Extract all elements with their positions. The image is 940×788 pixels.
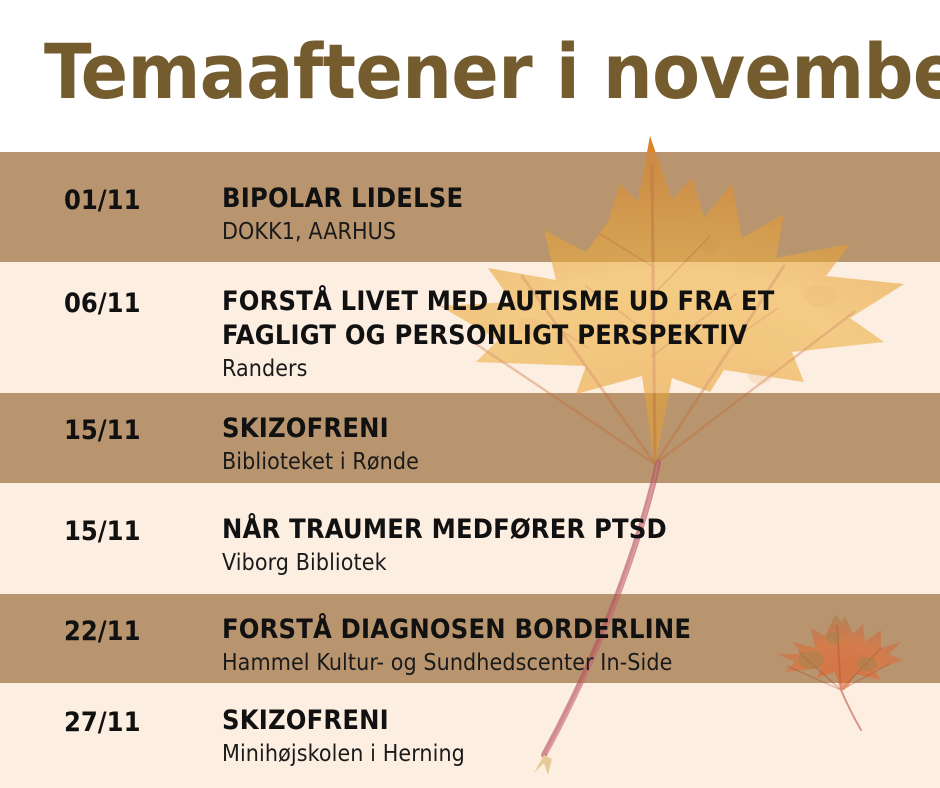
event-row: 22/11 FORSTÅ DIAGNOSEN BORDERLINE Hammel… xyxy=(0,594,940,683)
event-row: 01/11 BIPOLAR LIDELSE DOKK1, AARHUS xyxy=(0,152,940,262)
event-place: DOKK1, AARHUS xyxy=(222,217,930,247)
event-place: Biblioteket i Rønde xyxy=(222,447,930,477)
event-row: 27/11 SKIZOFRENI Minihøjskolen i Herning xyxy=(0,683,940,788)
event-text-block: FORSTÅ DIAGNOSEN BORDERLINE Hammel Kultu… xyxy=(222,613,930,678)
event-row: 15/11 SKIZOFRENI Biblioteket i Rønde xyxy=(0,393,940,483)
event-text-block: BIPOLAR LIDELSE DOKK1, AARHUS xyxy=(222,182,930,247)
event-text-block: SKIZOFRENI Minihøjskolen i Herning xyxy=(222,704,930,769)
event-place: Randers xyxy=(222,354,930,384)
event-text-block: FORSTÅ LIVET MED AUTISME UD FRA ET FAGLI… xyxy=(222,285,930,384)
event-date: 15/11 xyxy=(64,516,140,547)
event-title: FORSTÅ LIVET MED AUTISME UD FRA ET xyxy=(222,285,930,319)
event-place: Viborg Bibliotek xyxy=(222,548,930,578)
event-place: Hammel Kultur- og Sundhedscenter In-Side xyxy=(222,648,930,678)
event-date: 06/11 xyxy=(64,288,140,319)
page-title: Temaaftener i november xyxy=(44,24,921,120)
event-row: 15/11 NÅR TRAUMER MEDFØRER PTSD Viborg B… xyxy=(0,483,940,594)
event-title: SKIZOFRENI xyxy=(222,412,930,446)
event-text-block: SKIZOFRENI Biblioteket i Rønde xyxy=(222,412,930,477)
event-date: 15/11 xyxy=(64,415,140,446)
event-title: SKIZOFRENI xyxy=(222,704,930,738)
event-date: 27/11 xyxy=(64,707,140,738)
event-title: BIPOLAR LIDELSE xyxy=(222,182,930,216)
event-title: FORSTÅ DIAGNOSEN BORDERLINE xyxy=(222,613,930,647)
poster-canvas: Temaaftener i november 01/11 BIPOLAR LID… xyxy=(0,0,940,788)
event-title: NÅR TRAUMER MEDFØRER PTSD xyxy=(222,513,930,547)
event-date: 01/11 xyxy=(64,185,140,216)
event-title-line2: FAGLIGT OG PERSONLIGT PERSPEKTIV xyxy=(222,319,930,353)
event-row: 06/11 FORSTÅ LIVET MED AUTISME UD FRA ET… xyxy=(0,262,940,393)
event-place: Minihøjskolen i Herning xyxy=(222,739,930,769)
event-date: 22/11 xyxy=(64,616,140,647)
event-text-block: NÅR TRAUMER MEDFØRER PTSD Viborg Bibliot… xyxy=(222,513,930,578)
